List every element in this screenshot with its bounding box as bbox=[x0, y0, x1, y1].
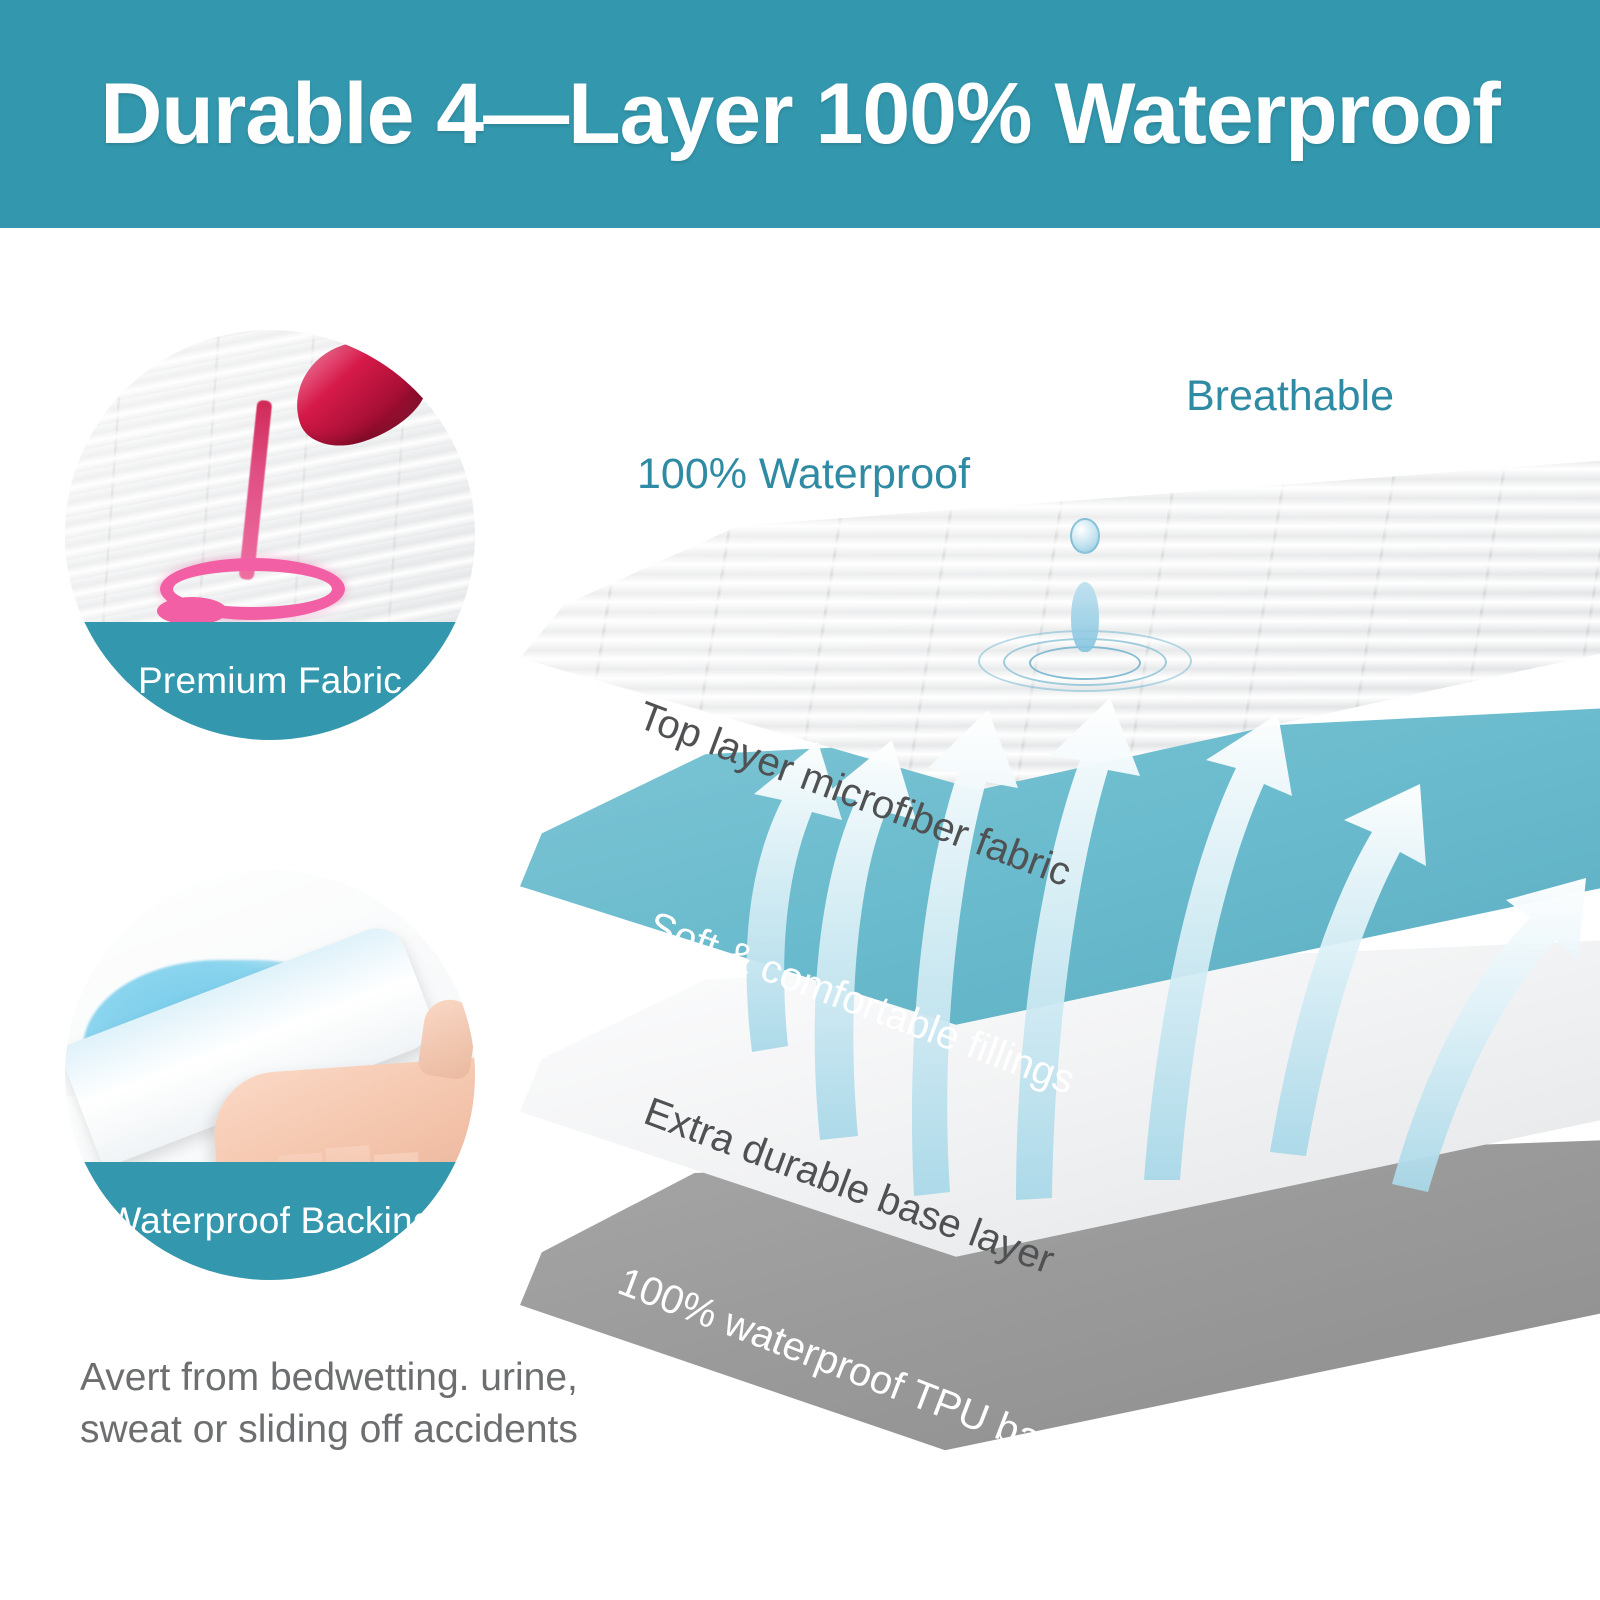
droplet-column bbox=[1071, 582, 1099, 652]
header-banner: Durable 4—Layer 100% Waterproof bbox=[0, 0, 1600, 228]
wine-bead-pool-icon bbox=[160, 558, 345, 620]
feature-caption-waterproof-backing: Waterproof Backing bbox=[65, 1162, 475, 1280]
feature-caption-premium-fabric: Premium Fabric bbox=[65, 622, 475, 740]
left-description-text: Avert from bedwetting. urine, sweat or s… bbox=[80, 1352, 580, 1456]
callout-breathable: Breathable bbox=[1186, 372, 1394, 421]
page-title: Durable 4—Layer 100% Waterproof bbox=[100, 65, 1500, 164]
exploded-layer-diagram: Top layer microfiber fabric Soft & comfo… bbox=[520, 440, 1600, 1570]
droplet-bead bbox=[1070, 518, 1100, 554]
water-droplet-icon bbox=[975, 490, 1195, 700]
infographic-canvas: Durable 4—Layer 100% Waterproof Premium … bbox=[0, 0, 1600, 1600]
feature-circle-premium-fabric: Premium Fabric bbox=[65, 330, 475, 740]
feature-circle-waterproof-backing: Waterproof Backing bbox=[65, 870, 475, 1280]
